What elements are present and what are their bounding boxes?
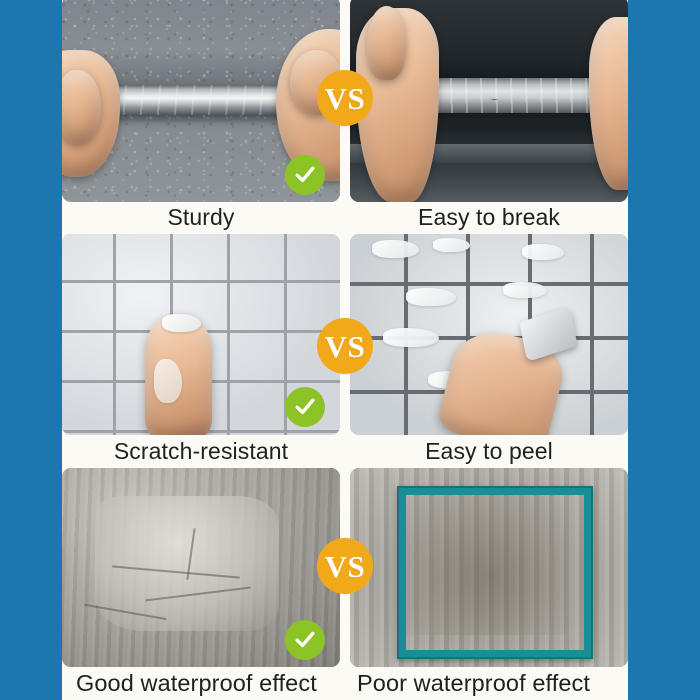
comparison-infographic: VS Sturdy Easy to break — [0, 0, 700, 700]
check-badge — [285, 620, 325, 660]
photo-peeling-grout — [350, 234, 628, 435]
caption-good-waterproof: Good waterproof effect — [76, 670, 317, 697]
image-tile-poor-waterproof — [350, 468, 628, 667]
grout-flake — [503, 282, 547, 298]
caption-scratch-resistant: Scratch-resistant — [62, 438, 340, 465]
grout-smear — [154, 359, 182, 403]
grout-flake — [383, 328, 439, 346]
caption-easy-to-peel: Easy to peel — [350, 438, 628, 465]
photo-damp-concrete — [350, 468, 628, 667]
caption-easy-to-break: Easy to break — [350, 204, 628, 231]
grout-flake — [433, 238, 469, 252]
caption-sturdy: Sturdy — [62, 204, 340, 231]
check-badge — [285, 155, 325, 195]
teal-tape-square — [397, 486, 593, 659]
hand-left-thumb — [367, 6, 406, 80]
vs-badge: VS — [317, 318, 373, 374]
comparison-row-durability: VS Sturdy Easy to break — [62, 0, 628, 234]
check-icon — [293, 395, 317, 419]
image-tile-easy-to-break — [350, 0, 628, 202]
content-panel: VS Sturdy Easy to break — [62, 0, 628, 700]
comparison-row-waterproof: VS Good waterproof effect Poor waterproo… — [62, 468, 628, 700]
check-icon — [293, 163, 317, 187]
grout-flake — [372, 240, 419, 258]
image-tile-easy-to-peel — [350, 234, 628, 435]
vs-badge: VS — [317, 538, 373, 594]
comparison-row-scratch: VS Scratch-resistant Easy to peel — [62, 234, 628, 468]
check-icon — [293, 628, 317, 652]
grout-smear — [162, 314, 201, 332]
check-badge — [285, 387, 325, 427]
caption-poor-waterproof: Poor waterproof effect — [357, 670, 590, 697]
photo-broken-blade — [350, 0, 628, 202]
vs-badge: VS — [317, 70, 373, 126]
grout-flake — [406, 288, 456, 306]
grout-flake — [522, 244, 564, 260]
